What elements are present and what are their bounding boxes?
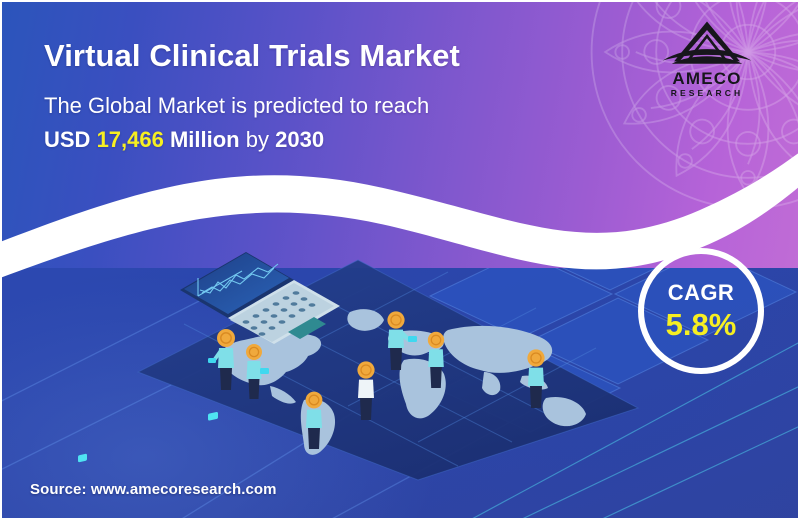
- cagr-label: CAGR: [668, 280, 734, 306]
- cagr-value: 5.8%: [666, 308, 737, 342]
- subtitle-million: Million: [164, 127, 246, 152]
- cagr-badge: CAGR 5.8%: [638, 248, 764, 374]
- market-value-highlight: 17,466: [97, 127, 164, 152]
- logo-tagline: RESEARCH: [671, 88, 744, 99]
- ameco-research-logo[interactable]: AMECO RESEARCH: [648, 18, 766, 110]
- subtitle-usd-prefix: USD: [44, 127, 97, 152]
- subtitle-by: by: [246, 127, 275, 152]
- page-title: Virtual Clinical Trials Market: [44, 36, 604, 76]
- headline-block: Virtual Clinical Trials Market The Globa…: [44, 36, 604, 155]
- isometric-illustration: [118, 230, 678, 488]
- forecast-year: 2030: [275, 127, 324, 152]
- infographic-poster: Virtual Clinical Trials Market The Globa…: [0, 0, 800, 520]
- source-footer: Source: www.amecoresearch.com: [30, 481, 277, 498]
- logo-wordmark: AMECO: [672, 70, 741, 88]
- subtitle-line-1: The Global Market is predicted to reach: [44, 90, 604, 121]
- subtitle-line-2: USD 17,466 Million by 2030: [44, 124, 604, 155]
- ameco-triangle-mark-icon: [661, 18, 753, 68]
